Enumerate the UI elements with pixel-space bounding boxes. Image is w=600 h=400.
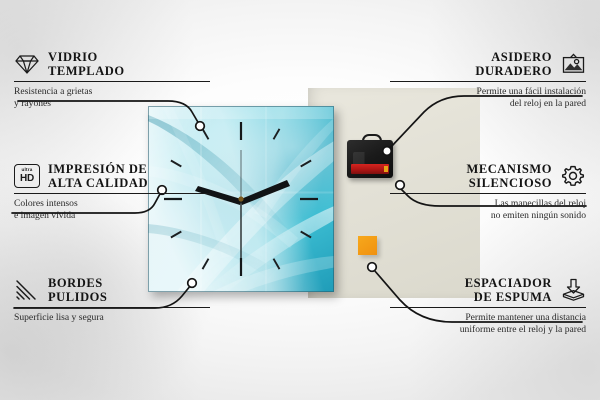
mechanism-housing [347, 140, 393, 178]
feature-vidrio-templado: VIDRIO TEMPLADO Resistencia a grietas y … [14, 50, 210, 109]
feature-divider [14, 193, 210, 194]
feature-divider [390, 307, 586, 308]
feature-desc-line2: e imagen vívida [14, 210, 210, 222]
feature-desc-line2: no emiten ningún sonido [390, 210, 586, 222]
feature-title: VIDRIO TEMPLADO [48, 50, 125, 78]
feature-mecanismo-silencioso: MECANISMO SILENCIOSO Las manecillas del … [390, 162, 586, 221]
feature-divider [390, 81, 586, 82]
feature-desc-line1: Las manecillas del reloj [390, 198, 586, 210]
feature-desc-line2: uniforme entre el reloj y la pared [390, 324, 586, 336]
feature-desc-line1: Resistencia a grietas [14, 86, 210, 98]
mechanism-battery [351, 164, 389, 174]
clock-mechanism [347, 134, 393, 178]
feature-title: ASIDERO DURADERO [475, 50, 552, 78]
feature-title: IMPRESIÓN DE ALTA CALIDAD [48, 162, 148, 190]
ultra-hd-icon-large-label: HD [20, 174, 34, 184]
feature-heading: MECANISMO SILENCIOSO [390, 162, 586, 190]
polished-edges-icon [14, 277, 40, 303]
gear-icon [560, 163, 586, 189]
feature-heading: ASIDERO DURADERO [390, 50, 586, 78]
feature-desc-line2: y rayones [14, 98, 210, 110]
feature-divider [390, 193, 586, 194]
feature-heading: ESPACIADOR DE ESPUMA [390, 276, 586, 304]
picture-hanger-icon [560, 51, 586, 77]
diamond-icon [14, 51, 40, 77]
feature-divider [14, 307, 210, 308]
feature-heading: BORDES PULIDOS [14, 276, 210, 304]
feature-desc-line1: Superficie lisa y segura [14, 312, 210, 324]
feature-title: BORDES PULIDOS [48, 276, 107, 304]
feature-heading: VIDRIO TEMPLADO [14, 50, 210, 78]
infographic-stage: VIDRIO TEMPLADO Resistencia a grietas y … [0, 0, 600, 400]
feature-asidero-duradero: ASIDERO DURADERO Permite una fácil insta… [390, 50, 586, 109]
feature-heading: ultra HD IMPRESIÓN DE ALTA CALIDAD [14, 162, 210, 190]
feature-impresion-alta-calidad: ultra HD IMPRESIÓN DE ALTA CALIDAD Color… [14, 162, 210, 221]
feature-title: ESPACIADOR DE ESPUMA [465, 276, 552, 304]
feature-bordes-pulidos: BORDES PULIDOS Superficie lisa y segura [14, 276, 210, 324]
feature-desc-line2: del reloj en la pared [390, 98, 586, 110]
feature-espaciador-de-espuma: ESPACIADOR DE ESPUMA Permite mantener un… [390, 276, 586, 335]
feature-title: MECANISMO SILENCIOSO [466, 162, 552, 190]
feature-desc-line1: Colores intensos [14, 198, 210, 210]
ultra-hd-icon: ultra HD [14, 163, 40, 189]
feature-desc-line1: Permite una fácil instalación [390, 86, 586, 98]
foam-spacer-icon [560, 277, 586, 303]
feature-desc-line1: Permite mantener una distancia [390, 312, 586, 324]
foam-spacer-piece [358, 236, 377, 255]
feature-divider [14, 81, 210, 82]
